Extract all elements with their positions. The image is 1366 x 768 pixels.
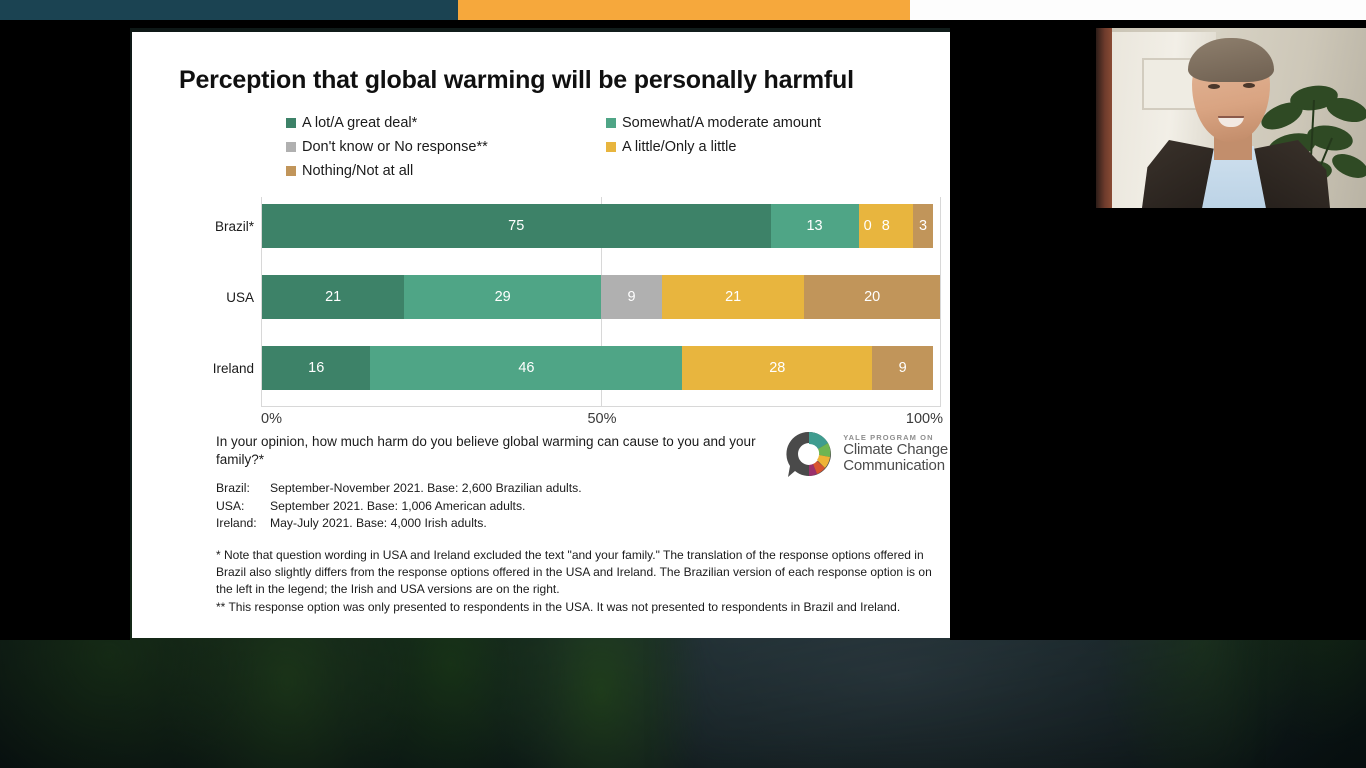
category-label-brazil: Brazil* <box>215 219 254 234</box>
bar-segment-value: 21 <box>725 289 741 305</box>
bar-row-usa[interactable]: 212992120 <box>262 275 940 319</box>
source-row-ireland: Ireland: May-July 2021. Base: 4,000 Iris… <box>216 515 956 532</box>
legend-swatch-icon-dont-know <box>286 142 296 152</box>
progress-bar-left-cap <box>0 0 458 20</box>
letterbox-left <box>0 28 130 640</box>
category-axis-labels: Brazil* USA Ireland <box>156 197 254 407</box>
bar-segment-value: 28 <box>769 360 785 376</box>
bar-segment-value: 9 <box>627 289 635 305</box>
survey-question: In your opinion, how much harm do you be… <box>216 433 756 469</box>
bar-segment-value: 21 <box>325 289 341 305</box>
stacked-bar-chart: Brazil* USA Ireland 7513083 212992120 16… <box>156 197 946 427</box>
legend-label-a-lot: A lot/A great deal* <box>302 115 417 131</box>
legend-label-dont-know: Don't know or No response** <box>302 139 488 155</box>
legend-item-somewhat: Somewhat/A moderate amount <box>606 115 906 131</box>
yale-logo-wordmark: YALE PROGRAM ON Climate Change Communica… <box>843 434 948 474</box>
bar-segment[interactable]: 20 <box>804 275 940 319</box>
legend-swatch-icon-a-lot <box>286 118 296 128</box>
footnote-double-asterisk: ** This response option was only present… <box>216 599 934 616</box>
presentation-slide: Perception that global warming will be p… <box>132 32 950 638</box>
bar-segment-value: 75 <box>508 218 524 234</box>
slide-title: Perception that global warming will be p… <box>179 66 926 95</box>
category-label-usa: USA <box>226 290 254 305</box>
bar-segment[interactable]: 9 <box>872 346 933 390</box>
source-country-brazil: Brazil: <box>216 480 270 497</box>
yale-logo-line1: Climate Change <box>843 442 948 458</box>
bar-segment[interactable]: 75 <box>262 204 771 248</box>
bar-segment[interactable]: 3 <box>913 204 933 248</box>
bar-segment[interactable]: 29 <box>404 275 601 319</box>
legend-swatch-icon-somewhat <box>606 118 616 128</box>
legend-label-somewhat: Somewhat/A moderate amount <box>622 115 821 131</box>
progress-bar-fill[interactable] <box>458 0 910 20</box>
yale-logo-mark-icon <box>784 429 834 479</box>
bar-segment[interactable]: 21 <box>262 275 404 319</box>
bar-segment[interactable]: 28 <box>682 346 872 390</box>
bar-segment-value: 29 <box>495 289 511 305</box>
bar-segment-value: 9 <box>899 360 907 376</box>
bar-row-ireland[interactable]: 1646289 <box>262 346 940 390</box>
bar-row-brazil[interactable]: 7513083 <box>262 204 940 248</box>
source-detail-ireland: May-July 2021. Base: 4,000 Irish adults. <box>270 515 487 532</box>
bar-segment[interactable]: 16 <box>262 346 370 390</box>
source-country-usa: USA: <box>216 498 270 515</box>
playback-progress-bar[interactable] <box>0 0 1366 20</box>
webcam-door-frame <box>1096 28 1112 208</box>
yale-program-logo: YALE PROGRAM ON Climate Change Communica… <box>784 429 948 479</box>
letterbox-right-lower <box>1096 208 1366 640</box>
bar-segment[interactable]: 46 <box>370 346 682 390</box>
slide-footnotes: * Note that question wording in USA and … <box>216 547 934 615</box>
category-label-ireland: Ireland <box>213 361 254 376</box>
source-country-ireland: Ireland: <box>216 515 270 532</box>
slide-metadata: In your opinion, how much harm do you be… <box>216 433 956 532</box>
screen-capture: Perception that global warming will be p… <box>0 0 1366 768</box>
webcam-eye-left <box>1208 84 1220 89</box>
yale-logo-line2: Communication <box>843 458 948 474</box>
bar-segment[interactable]: 9 <box>601 275 662 319</box>
bar-segment-value: 46 <box>518 360 534 376</box>
source-row-usa: USA: September 2021. Base: 1,006 America… <box>216 498 956 515</box>
chart-plot-area: 7513083 212992120 1646289 <box>261 197 941 407</box>
presenter-webcam-inset[interactable] <box>1096 28 1366 208</box>
bar-segment-value: 16 <box>308 360 324 376</box>
bar-segment-value: 20 <box>864 289 880 305</box>
legend-item-a-little: A little/Only a little <box>606 139 906 155</box>
bar-segment[interactable]: 13 <box>771 204 859 248</box>
bar-segment-value: 13 <box>806 218 822 234</box>
legend-swatch-icon-a-little <box>606 142 616 152</box>
footnote-single-asterisk: * Note that question wording in USA and … <box>216 547 934 598</box>
xtick-100: 100% <box>906 411 943 427</box>
bar-segment-value: 8 <box>882 218 890 234</box>
bar-segment-value: 3 <box>919 218 927 234</box>
legend-item-dont-know: Don't know or No response** <box>286 139 606 155</box>
bar-segment[interactable]: 21 <box>662 275 804 319</box>
survey-sources: Brazil: September-November 2021. Base: 2… <box>216 480 956 532</box>
source-detail-brazil: September-November 2021. Base: 2,600 Bra… <box>270 480 582 497</box>
xtick-0: 0% <box>261 411 282 427</box>
legend-label-a-little: A little/Only a little <box>622 139 736 155</box>
progress-bar-track[interactable] <box>910 0 1366 20</box>
bar-segment-value: 0 <box>864 218 872 234</box>
legend-item-nothing: Nothing/Not at all <box>286 163 606 179</box>
source-detail-usa: September 2021. Base: 1,006 American adu… <box>270 498 525 515</box>
legend-swatch-icon-nothing <box>286 166 296 176</box>
legend-item-a-lot: A lot/A great deal* <box>286 115 606 131</box>
legend-label-nothing: Nothing/Not at all <box>302 163 413 179</box>
xtick-50: 50% <box>587 411 616 427</box>
chart-legend: A lot/A great deal* Somewhat/A moderate … <box>286 111 906 183</box>
source-row-brazil: Brazil: September-November 2021. Base: 2… <box>216 480 956 497</box>
webcam-eye-right <box>1243 83 1255 88</box>
